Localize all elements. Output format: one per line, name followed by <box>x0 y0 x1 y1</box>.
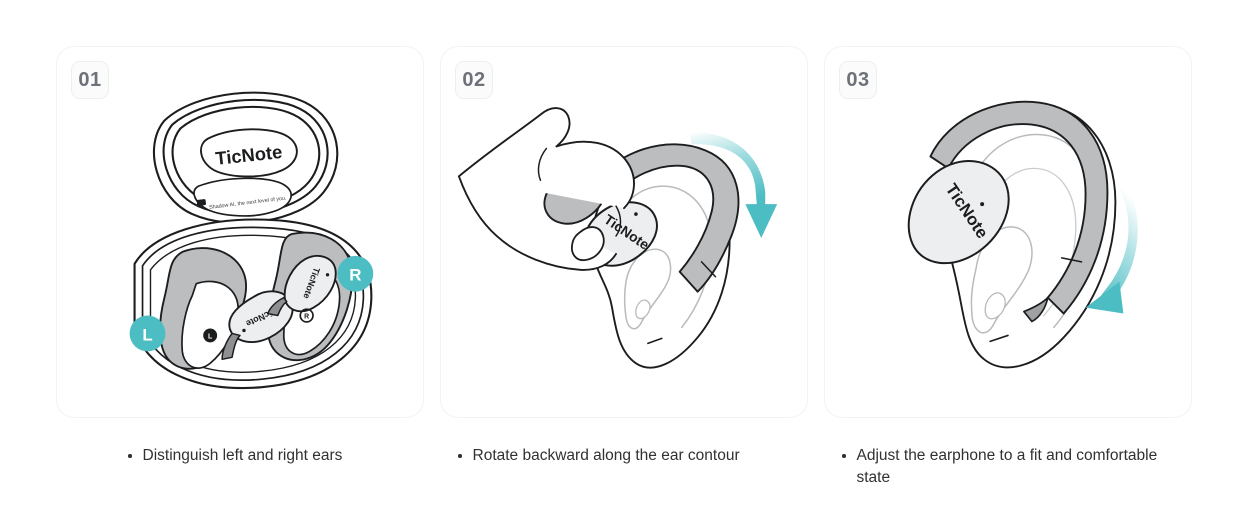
step-caption-3: Adjust the earphone to a fit and comfort… <box>842 445 1182 489</box>
instruction-sheet: 01 TicNo <box>0 0 1250 528</box>
bullet-icon <box>128 454 132 458</box>
marker-right: R <box>337 256 373 292</box>
marker-right-label: R <box>349 266 361 285</box>
bullet-icon <box>458 454 462 458</box>
step-panel-1: 01 TicNo <box>56 46 424 418</box>
step-caption-text-1: Distinguish left and right ears <box>143 445 343 467</box>
step-panel-2: 02 <box>440 46 808 418</box>
earbud-left-mic-dot <box>242 329 245 332</box>
step-caption-text-2: Rotate backward along the ear contour <box>473 445 740 467</box>
marker-left-label: L <box>142 325 152 344</box>
bullet-icon <box>842 454 846 458</box>
case-right-side-mark: R <box>304 314 309 321</box>
step-caption-1: Distinguish left and right ears <box>128 445 428 467</box>
illustration-charging-case: TicNote Shadow AI, the next level of you… <box>57 47 423 417</box>
illustration-hand-placing-earphone: TicNote <box>441 47 807 417</box>
step-caption-text-3: Adjust the earphone to a fit and comfort… <box>857 445 1183 489</box>
earbud-right-mic-dot <box>326 273 329 276</box>
illustration-earphone-on-ear: TicNote <box>825 47 1191 417</box>
case-left-side-mark: L <box>208 333 213 340</box>
case-base: TicNote TicNote L R <box>135 220 372 388</box>
step-caption-2: Rotate backward along the ear contour <box>458 445 788 467</box>
marker-left: L <box>130 316 166 352</box>
step-panel-3: 03 <box>824 46 1192 418</box>
